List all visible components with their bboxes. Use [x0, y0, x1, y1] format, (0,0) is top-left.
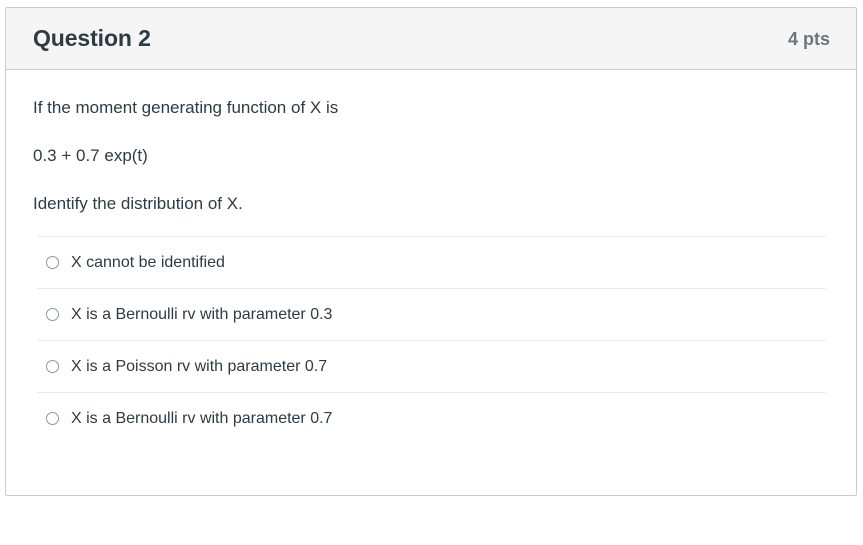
radio-button-icon[interactable] [46, 360, 59, 373]
question-card: Question 2 4 pts If the moment generatin… [5, 7, 857, 496]
radio-button-icon[interactable] [46, 412, 59, 425]
answer-option-label: X is a Bernoulli rv with parameter 0.7 [71, 411, 332, 427]
question-body: If the moment generating function of X i… [6, 70, 856, 212]
question-text-line: If the moment generating function of X i… [33, 99, 829, 116]
question-text-line: 0.3 + 0.7 exp(t) [33, 147, 829, 164]
question-title: Question 2 [33, 27, 151, 50]
radio-button-icon[interactable] [46, 308, 59, 321]
answer-option-label: X cannot be identified [71, 255, 225, 271]
answer-option-row[interactable]: X is a Bernoulli rv with parameter 0.3 [37, 288, 826, 340]
answer-option-row[interactable]: X is a Bernoulli rv with parameter 0.7 [37, 392, 826, 444]
quiz-question-page: Question 2 4 pts If the moment generatin… [0, 0, 863, 545]
answer-options-list: X cannot be identified X is a Bernoulli … [6, 236, 856, 444]
answer-option-label: X is a Bernoulli rv with parameter 0.3 [71, 307, 332, 323]
radio-button-icon[interactable] [46, 256, 59, 269]
answer-option-row[interactable]: X is a Poisson rv with parameter 0.7 [37, 340, 826, 392]
question-header: Question 2 4 pts [6, 8, 856, 70]
question-points-badge: 4 pts [788, 30, 830, 48]
answer-option-label: X is a Poisson rv with parameter 0.7 [71, 359, 327, 375]
question-text-line: Identify the distribution of X. [33, 195, 829, 212]
answer-option-row[interactable]: X cannot be identified [37, 236, 826, 288]
